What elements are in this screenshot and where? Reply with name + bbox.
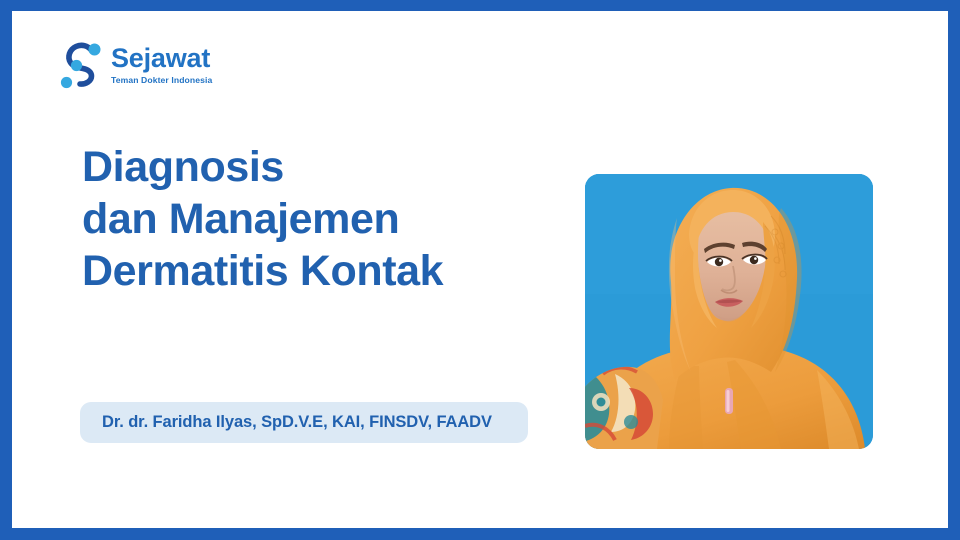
sejawat-s-node-logo-icon [56, 39, 102, 89]
speaker-badge: Dr. dr. Faridha Ilyas, SpD.V.E, KAI, FIN… [80, 402, 528, 443]
speaker-name: Dr. dr. Faridha Ilyas, SpD.V.E, KAI, FIN… [102, 413, 508, 431]
speaker-portrait [585, 174, 873, 449]
speaker-portrait-image [585, 174, 873, 449]
title-line-2: dan Manajemen [82, 193, 562, 245]
brand-logo: Sejawat Teman Dokter Indonesia [56, 39, 212, 89]
slide-frame: Sejawat Teman Dokter Indonesia Diagnosis… [0, 0, 960, 540]
slide-title: Diagnosis dan Manajemen Dermatitis Konta… [82, 141, 562, 297]
title-line-1: Diagnosis [82, 141, 562, 193]
brand-tagline: Teman Dokter Indonesia [111, 76, 212, 85]
title-line-3: Dermatitis Kontak [82, 245, 562, 297]
brand-logo-text: Sejawat Teman Dokter Indonesia [111, 43, 212, 85]
brand-wordmark: Sejawat [111, 45, 212, 73]
slide-canvas: Sejawat Teman Dokter Indonesia Diagnosis… [12, 11, 948, 528]
